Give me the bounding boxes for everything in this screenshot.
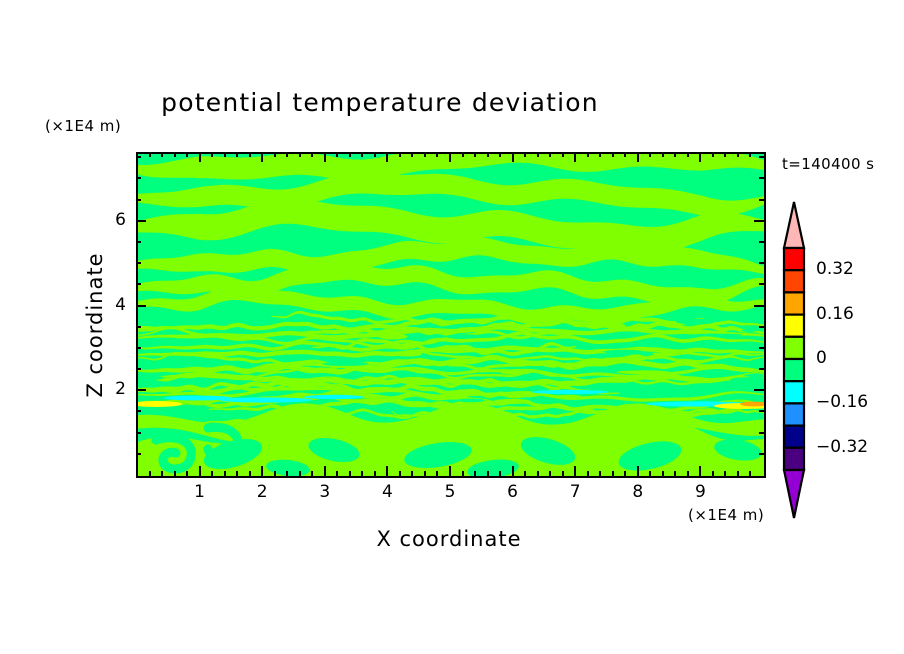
contour-filament [532,390,608,394]
tick-x-minor [161,152,163,157]
contour-fleck [533,336,580,339]
tick-y-minor [759,262,764,264]
contour-fleck [604,350,644,354]
colorbar-band [784,292,804,314]
tick-x-minor [599,152,601,157]
tick-x-major [637,466,639,476]
contour-fleck [445,334,483,338]
x-tick-label: 8 [618,482,658,502]
tick-x-minor [374,152,376,157]
colorbar-over-arrow [784,202,804,248]
tick-y-minor [136,156,141,158]
tick-y-minor [136,453,141,455]
x-tick-label: 6 [493,482,533,502]
tick-x-minor [349,152,351,157]
tick-y-major [136,389,146,391]
tick-x-major [449,466,451,476]
tick-x-minor [537,471,539,476]
tick-x-minor [274,471,276,476]
tick-x-minor [724,471,726,476]
colorbar-under-arrow [784,470,804,518]
tick-y-minor [759,199,764,201]
tick-y-minor [136,283,141,285]
tick-y-minor [136,432,141,434]
tick-y-minor [759,368,764,370]
tick-x-minor [474,471,476,476]
tick-x-minor [274,152,276,157]
tick-y-minor [136,347,141,349]
tick-x-major [261,152,263,162]
x-tick-label: 2 [242,482,282,502]
tick-x-major [199,152,201,162]
tick-x-major [699,152,701,162]
tick-x-major [261,466,263,476]
tick-x-minor [562,152,564,157]
contour-fleck [457,399,485,403]
tick-x-minor [462,471,464,476]
tick-y-minor [759,326,764,328]
tick-x-major [324,466,326,476]
colorbar-band [784,403,804,425]
tick-x-minor [149,471,151,476]
contour-fleck [379,334,408,340]
tick-x-major [199,466,201,476]
tick-y-major [136,305,146,307]
tick-x-minor [662,471,664,476]
tick-x-minor [487,152,489,157]
tick-x-minor [599,471,601,476]
tick-x-minor [299,152,301,157]
contour-fleck [381,399,406,402]
contour-fleck [676,319,716,325]
tick-x-minor [674,471,676,476]
tick-x-minor [612,152,614,157]
tick-x-minor [712,471,714,476]
tick-x-minor [587,471,589,476]
tick-x-minor [674,152,676,157]
tick-x-minor [749,471,751,476]
tick-x-major [574,152,576,162]
contour-fleck [471,327,494,330]
tick-y-minor [136,368,141,370]
tick-x-minor [224,152,226,157]
x-tick-label: 3 [305,482,345,502]
colorbar-swatches [781,200,807,520]
tick-x-major [699,466,701,476]
tick-x-minor [687,152,689,157]
tick-x-minor [211,471,213,476]
tick-x-minor [349,471,351,476]
tick-x-minor [424,471,426,476]
tick-x-major [574,466,576,476]
tick-x-major [386,152,388,162]
tick-x-minor [474,152,476,157]
tick-x-major [386,466,388,476]
contour-fleck [555,395,581,399]
contour-plot-area [136,152,766,478]
tick-x-minor [311,152,313,157]
tick-x-major [512,152,514,162]
tick-x-major [512,466,514,476]
tick-y-minor [759,432,764,434]
tick-y-minor [759,241,764,243]
tick-y-major [754,220,764,222]
tick-x-minor [224,471,226,476]
tick-x-minor [649,471,651,476]
contour-filament [304,395,364,399]
colorbar-band [784,248,804,270]
tick-x-minor [186,471,188,476]
colorbar-band [784,337,804,359]
tick-x-minor [487,471,489,476]
tick-x-minor [411,152,413,157]
tick-x-minor [724,152,726,157]
tick-y-minor [136,326,141,328]
tick-x-major [449,152,451,162]
colorbar-band [784,426,804,448]
colorbar-band [784,448,804,470]
tick-x-minor [311,471,313,476]
tick-x-minor [161,471,163,476]
contour-fleck [493,399,531,404]
tick-y-major [754,389,764,391]
tick-x-minor [649,152,651,157]
tick-x-minor [499,471,501,476]
contour-fleck [395,352,422,357]
colorbar-band [784,359,804,381]
tick-x-minor [562,471,564,476]
tick-y-minor [136,199,141,201]
tick-x-minor [524,471,526,476]
tick-x-minor [336,152,338,157]
tick-x-minor [361,152,363,157]
x-tick-label: 5 [430,482,470,502]
contour-fleck [342,418,361,424]
tick-x-minor [411,471,413,476]
tick-x-minor [424,152,426,157]
tick-x-minor [286,152,288,157]
tick-x-major [324,152,326,162]
tick-x-minor [436,152,438,157]
tick-x-minor [286,471,288,476]
tick-x-minor [662,152,664,157]
x-tick-label: 1 [180,482,220,502]
tick-x-minor [537,152,539,157]
contour-fleck [347,393,363,396]
colorbar-band [784,381,804,403]
x-tick-label: 9 [680,482,720,502]
tick-x-minor [249,152,251,157]
contour-fleck [652,352,674,355]
colorbar-tick-label: 0 [816,348,827,368]
tick-y-major [136,220,146,222]
tick-y-minor [759,177,764,179]
colorbar-tick-label: 0.16 [816,304,854,324]
contour-filament [220,397,312,402]
tick-y-minor [136,410,141,412]
contour-fleck [691,334,743,337]
tick-y-minor [136,177,141,179]
contour-fleck [602,323,625,328]
tick-x-minor [399,471,401,476]
colorbar-tick-label: −0.32 [816,437,868,457]
x-tick-label: 4 [367,482,407,502]
tick-y-minor [759,453,764,455]
tick-y-minor [759,347,764,349]
tick-x-minor [374,471,376,476]
colorbar [781,200,807,520]
tick-x-minor [249,471,251,476]
contour-fleck [322,362,368,366]
tick-x-minor [399,152,401,157]
tick-x-minor [174,152,176,157]
tick-x-minor [624,471,626,476]
contour-fleck [617,370,670,374]
tick-x-minor [549,152,551,157]
page-title: potential temperature deviation [0,88,760,117]
tick-x-minor [211,152,213,157]
tick-x-minor [186,152,188,157]
tick-x-minor [712,152,714,157]
tick-x-minor [549,471,551,476]
tick-x-minor [737,152,739,157]
contour-fleck [276,378,314,384]
colorbar-tick-label: −0.16 [816,392,868,412]
tick-y-minor [136,241,141,243]
y-axis-title: Z coordinate [83,205,107,445]
y-axis-unit-label: (×1E4 m) [45,117,121,135]
tick-x-minor [436,471,438,476]
tick-x-minor [236,152,238,157]
tick-x-minor [612,471,614,476]
contour-fleck [633,384,686,389]
x-axis-unit-label: (×1E4 m) [688,506,764,524]
tick-y-minor [759,156,764,158]
tick-x-minor [749,152,751,157]
tick-x-major [637,152,639,162]
contour-fleck [501,371,531,375]
contour-fleck [742,329,758,332]
tick-x-minor [587,152,589,157]
time-annotation: t=140400 s [782,155,874,173]
x-axis-title: X coordinate [136,527,762,551]
tick-y-minor [136,262,141,264]
tick-y-minor [759,283,764,285]
contour-field [138,154,764,476]
tick-x-minor [361,471,363,476]
colorbar-band [784,315,804,337]
tick-x-minor [462,152,464,157]
tick-x-minor [499,152,501,157]
colorbar-band [784,270,804,292]
colorbar-tick-label: 0.32 [816,259,854,279]
tick-x-minor [687,471,689,476]
tick-x-minor [149,152,151,157]
tick-x-minor [174,471,176,476]
tick-y-minor [759,410,764,412]
tick-x-minor [299,471,301,476]
tick-x-minor [236,471,238,476]
tick-y-major [754,305,764,307]
tick-x-minor [624,152,626,157]
tick-x-minor [336,471,338,476]
tick-x-minor [524,152,526,157]
x-tick-label: 7 [555,482,595,502]
tick-x-minor [737,471,739,476]
